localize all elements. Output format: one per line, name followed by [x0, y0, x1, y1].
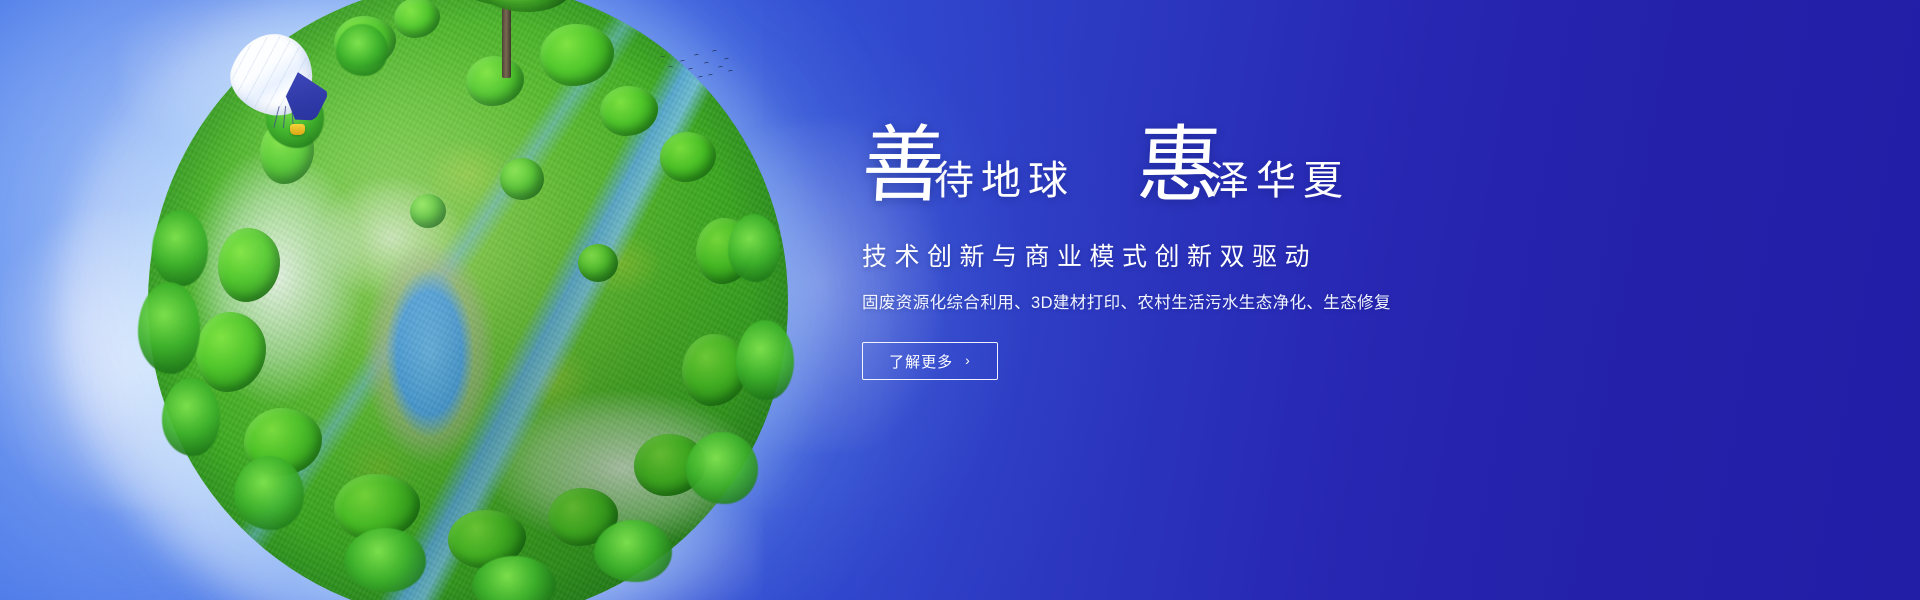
forest-blob [682, 334, 748, 406]
globe-grass-texture [148, 0, 788, 600]
rim-tree [736, 320, 794, 400]
cloud-wisp-left [0, 210, 290, 510]
headline-phrase-2: 惠泽华夏 [1137, 128, 1350, 205]
rim-tree [728, 214, 780, 282]
forest-blob [394, 0, 440, 38]
globe-sphere [148, 0, 788, 600]
balloon-basket [290, 124, 305, 135]
forest-blob [696, 218, 754, 284]
rim-tree [234, 456, 304, 530]
forest-blob [334, 474, 420, 540]
rim-tree [686, 432, 758, 504]
cloud-swirl-outer [60, 0, 820, 600]
globe-shading [148, 0, 788, 600]
hot-air-balloon-icon [232, 34, 328, 134]
forest-blob [634, 434, 706, 496]
tree-crown [410, 194, 446, 228]
rim-tree [162, 378, 220, 456]
tree-crown [578, 244, 618, 282]
forest-blob [334, 16, 396, 68]
learn-more-button[interactable]: 了解更多 › [862, 342, 998, 380]
rim-tree [336, 24, 388, 76]
forest-blob [448, 510, 526, 568]
hero-copy-block: 善待地球 惠泽华夏 技术创新与商业模式创新双驱动 固废资源化综合利用、3D建材打… [862, 128, 1562, 380]
rim-tree [472, 556, 556, 600]
chevron-right-icon: › [965, 353, 971, 367]
forest-blob [540, 24, 614, 86]
rim-tree [594, 520, 672, 582]
balloon-envelope [222, 23, 325, 124]
cloud-wisp-bottom [300, 470, 760, 600]
tree-trunk [502, 0, 511, 78]
pole-tree [440, 0, 580, 82]
headline-rest-chars-2: 泽华夏 [1209, 161, 1350, 205]
rim-tree [344, 528, 426, 592]
balloon-rigging [276, 106, 302, 128]
headline-lead-char-2: 惠 [1135, 128, 1223, 205]
balloon-gores [224, 26, 322, 122]
cloud-swirl-inner [120, 60, 760, 600]
forest-blob [244, 408, 322, 476]
headline-phrase-1: 善待地球 [862, 128, 1075, 205]
rim-tree [152, 210, 208, 286]
forest-blob [218, 228, 280, 302]
hero-subtitle: 技术创新与商业模式创新双驱动 [862, 242, 1562, 272]
cloud-wisp-top [120, 0, 540, 160]
forest-blob [260, 120, 314, 184]
learn-more-label: 了解更多 [889, 351, 953, 372]
forest-blob [660, 132, 716, 182]
balloon-stripe [280, 71, 332, 127]
globe-outer-glow [96, 0, 840, 600]
earth-globe-illustration [148, 0, 788, 600]
forest-blob [548, 488, 618, 546]
forest-blob [196, 312, 266, 392]
tree-crown [500, 158, 544, 200]
forest-blob [466, 56, 524, 106]
tree-crown [446, 0, 574, 6]
headline-lead-char-1: 善 [860, 128, 948, 205]
rim-tree [138, 282, 200, 374]
hero-tagline: 固废资源化综合利用、3D建材打印、农村生活污水生态净化、生态修复 [862, 292, 1562, 314]
rim-tree [266, 86, 324, 148]
birds-flock-icon [592, 44, 732, 90]
forest-blob [600, 86, 658, 136]
tree-crown [480, 0, 572, 12]
hero-banner: 善待地球 惠泽华夏 技术创新与商业模式创新双驱动 固废资源化综合利用、3D建材打… [0, 0, 1920, 600]
headline-rest-chars-1: 待地球 [934, 161, 1075, 205]
page-title: 善待地球 惠泽华夏 [862, 128, 1562, 220]
